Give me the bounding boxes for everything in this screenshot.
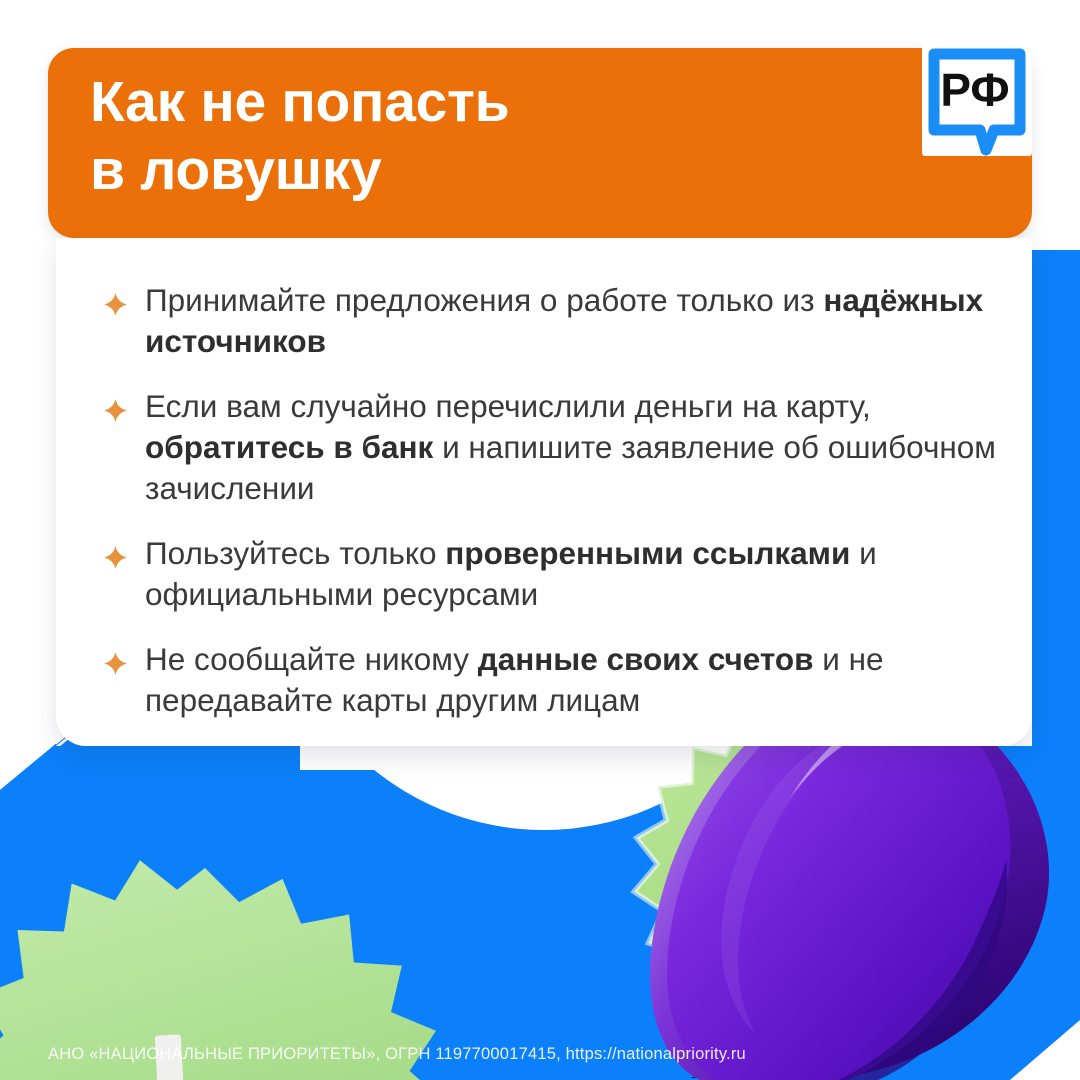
list-item: Пользуйтесь только проверенными ссылками… [104, 533, 1012, 615]
tip-text-bold: обратитесь в банк [145, 429, 433, 465]
page-title: Как не попасть в ловушку [90, 68, 790, 205]
list-item-text: Не сообщайте никому данные своих счетов … [145, 639, 1012, 721]
rf-logo: РФ [922, 38, 1032, 156]
list-item: Не сообщайте никому данные своих счетов … [104, 639, 1012, 721]
list-item-text: Принимайте предложения о работе только и… [145, 280, 1012, 362]
list-item-text: Если вам случайно перечислили деньги на … [145, 386, 1012, 509]
tips-card: Принимайте предложения о работе только и… [56, 238, 1032, 746]
tip-text-bold: проверенными ссылками [445, 535, 850, 571]
header-banner: Как не попасть в ловушку [48, 48, 1032, 238]
diamond-bullet-icon [104, 293, 127, 316]
list-item: Принимайте предложения о работе только и… [104, 280, 1012, 362]
diamond-bullet-icon [104, 546, 127, 569]
tip-text-plain: Если вам случайно перечислили деньги на … [145, 388, 871, 424]
list-item-text: Пользуйтесь только проверенными ссылками… [145, 533, 1012, 615]
diamond-bullet-icon [104, 399, 127, 422]
footer-legal-text: АНО «НАЦИОНАЛЬНЫЕ ПРИОРИТЕТЫ», ОГРН 1197… [48, 1045, 1048, 1064]
tip-text-plain: Принимайте предложения о работе только и… [145, 282, 823, 318]
list-item: Если вам случайно перечислили деньги на … [104, 386, 1012, 509]
tip-text-plain: Не сообщайте никому [145, 641, 478, 677]
tips-list: Принимайте предложения о работе только и… [104, 280, 1012, 720]
verified-starburst-badge-icon [613, 691, 1009, 1069]
rf-logo-text: РФ [940, 64, 1009, 116]
tip-text-plain: Пользуйтесь только [145, 535, 445, 571]
infographic-poster: Как не попасть в ловушку РФ Принимайте п… [0, 0, 1080, 1080]
tip-text-bold: данные своих счетов [478, 641, 814, 677]
white-check-icon [705, 814, 911, 988]
diamond-bullet-icon [104, 652, 127, 675]
